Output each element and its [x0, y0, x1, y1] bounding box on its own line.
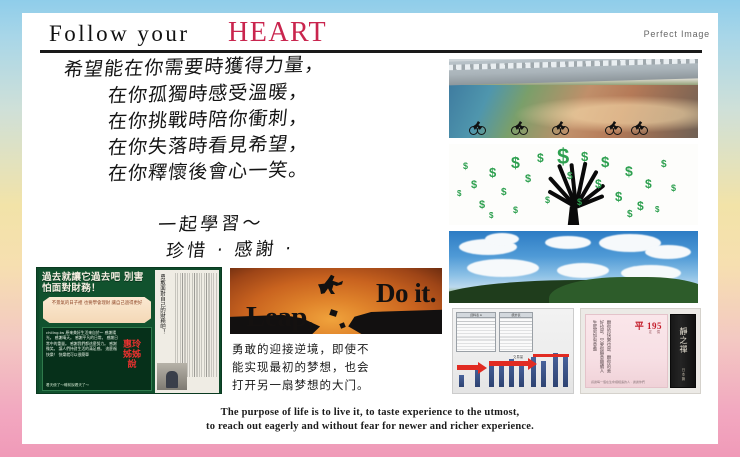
chart-series-label: 交易量	[513, 354, 523, 359]
cloud-shape	[485, 233, 519, 245]
magazine-left-page: 過去就讓它過去吧 別害怕面對財務！ 不景氣的日子裡 也要學會理財 讓自己過得更好…	[39, 270, 155, 393]
dollar-sign-icon: $	[513, 206, 518, 215]
pink-card: 願你的快樂也是，願你的美好也是，只要你願意繼續人生就更加有意義 平 195 定 …	[585, 314, 668, 388]
leap-caption-line: 能实现最初的梦想，也会	[232, 358, 444, 376]
gradient-frame: Follow your HEART Perfect Image 希望能在你需要時…	[0, 0, 740, 457]
dollar-sign-icon: $	[537, 152, 544, 164]
leap-word-left: Leap,	[246, 303, 314, 332]
dollar-sign-icon: $	[671, 184, 676, 193]
dollar-sign-icon: $	[463, 162, 468, 171]
chart-bar	[541, 361, 546, 387]
dollar-sign-icon: $	[545, 196, 550, 205]
chart-arrow-up-right	[489, 361, 529, 366]
cloud-shape	[467, 259, 539, 277]
table-a-rows	[457, 318, 495, 351]
magazine-ribbon-text: 不景氣的日子裡 也要學會理財 讓自己過得更好	[43, 301, 151, 307]
mural-wall	[449, 85, 698, 138]
magazine-vertical-title: 勇敢面對自己的財務吧！	[158, 274, 166, 350]
handwriting-block: 希望能在你需要時獲得力量， 在你孤獨時感受溫暖， 在你挑戰時陪你衝刺， 在你失落…	[50, 57, 450, 287]
magazine-text-columns	[175, 273, 217, 377]
magazine-body-text: chillng.tw 原來美好生活來自於～ 感謝陽光。 感謝晴天。 感謝平凡的日…	[46, 330, 118, 357]
leap-word-right: Do it.	[376, 280, 436, 307]
chart-bar	[499, 363, 504, 387]
falling-rock-shape	[339, 322, 346, 329]
handwriting-signoff-line: 珍惜 · 感謝 ·	[165, 233, 452, 265]
footer-quote-line: to reach out eagerly and without fear fo…	[22, 420, 718, 434]
dollar-sign-icon: $	[471, 180, 477, 191]
mural-cyclist-icon	[605, 119, 622, 135]
table-b-rows	[500, 318, 532, 351]
page-title: Follow your	[49, 21, 190, 47]
dollar-sign-icon: $	[595, 178, 602, 190]
dollar-sign-icon: $	[601, 155, 609, 170]
magazine-clipping: 過去就讓它過去吧 別害怕面對財務！ 不景氣的日子裡 也要學會理財 讓自己過得更好…	[36, 267, 222, 394]
falling-rock-shape	[329, 309, 338, 317]
chart-bar	[563, 357, 568, 387]
magazine-ribbon: 不景氣的日子裡 也要學會理財 讓自己過得更好	[43, 297, 151, 323]
book-title: 靜之禪	[678, 327, 688, 354]
magazine-footer-text: 看天使了～睡前說看天了～	[46, 383, 150, 388]
leap-caption: 勇敢的迎接逆境，即使不 能实现最初的梦想，也会 打开另一扇梦想的大门。	[232, 340, 444, 394]
pink-card-and-book: 願你的快樂也是，願你的美好也是，只要你願意繼續人生就更加有意義 平 195 定 …	[580, 308, 701, 394]
slide-sheet: Follow your HEART Perfect Image 希望能在你需要時…	[22, 13, 718, 444]
magazine-green-panel: chillng.tw 原來美好生活來自於～ 感謝陽光。 感謝晴天。 感謝平凡的日…	[42, 327, 152, 391]
dollar-sign-icon: $	[567, 172, 573, 182]
header: Follow your HEART Perfect Image	[22, 13, 718, 51]
bridge-railing	[449, 59, 698, 71]
dollar-sign-icon: $	[655, 206, 659, 214]
seated-person-silhouette	[166, 371, 178, 388]
card-vertical-text: 願你的快樂也是，願你的美好也是，只要你願意繼續人生就更加有意義	[591, 320, 612, 374]
magazine-red-stamp: 惠玲 姊姊 說	[117, 340, 147, 370]
dollar-sign-icon: $	[525, 174, 531, 185]
mural-cyclist-icon	[631, 119, 648, 135]
dollar-sign-icon: $	[577, 198, 582, 207]
bridge-deck	[449, 59, 698, 86]
mural-cyclist-icon	[552, 119, 569, 135]
cloud-shape	[557, 263, 609, 278]
chart-bar	[459, 375, 464, 387]
photo-bridge-mural	[449, 59, 698, 138]
brand-mark: Perfect Image	[644, 29, 710, 39]
card-price-label: 定 價	[649, 329, 662, 334]
dollar-sign-icon: $	[661, 160, 667, 170]
dollar-sign-icon: $	[627, 210, 633, 220]
dollar-sign-icon: $	[625, 164, 633, 178]
leap-caption-line: 勇敢的迎接逆境，即使不	[232, 340, 444, 358]
handwriting-signoff: 一起學習～ 珍惜 · 感謝 ·	[50, 213, 450, 265]
dollar-sign-icon: $	[501, 188, 507, 198]
dollar-sign-icon: $	[489, 166, 496, 179]
photo-sky-hill	[449, 231, 698, 303]
leap-caption-line: 打开另一扇梦想的大门。	[232, 376, 444, 394]
dollar-sign-icon: $	[557, 146, 569, 168]
mural-cyclist-icon	[511, 119, 528, 135]
dollar-sign-icon: $	[457, 190, 461, 198]
footer-quote-line: The purpose of life is to live it, to ta…	[22, 406, 718, 420]
photo-money-tree: $ $ $ $ $ $ $ $ $ $ $ $ $ $ $ $ $ $ $ $ …	[449, 144, 698, 225]
dollar-sign-icon: $	[615, 190, 622, 203]
chart-arrow-up-left	[457, 365, 479, 370]
dollar-sign-icon: $	[489, 212, 493, 220]
magazine-right-page: 勇敢面對自己的財務吧！	[155, 270, 219, 393]
page-title-accent: HEART	[228, 17, 327, 49]
dollar-sign-icon: $	[511, 156, 520, 172]
leap-do-it-banner: Leap, Do it.	[230, 268, 442, 334]
cloud-shape	[645, 245, 691, 259]
dollar-sign-icon: $	[581, 150, 588, 163]
dollar-sign-icon: $	[645, 178, 652, 190]
magazine-headline: 過去就讓它過去吧 別害怕面對財務！	[42, 272, 152, 294]
magazine-photo-inset	[157, 363, 187, 390]
card-footer-text: 感謝每一個在生命裡相遇的人 · 謝謝你們	[591, 380, 663, 384]
jumping-person-silhouette	[318, 274, 343, 294]
mural-cyclist-icon	[469, 119, 486, 135]
chart-bar	[553, 353, 558, 387]
footer-quote: The purpose of life is to live it, to ta…	[22, 406, 718, 434]
dollar-sign-icon: $	[637, 200, 644, 212]
chart-screenshot: 資料表 A 統計表 交易量	[452, 308, 574, 394]
book-spine: 靜之禪 日本篇	[670, 314, 696, 388]
spreadsheet-table-b: 統計表	[499, 312, 533, 352]
spreadsheet-table-a: 資料表 A	[456, 312, 496, 352]
cloud-shape	[545, 236, 591, 249]
chart-bar	[519, 365, 524, 387]
book-subtitle: 日本篇	[681, 368, 686, 381]
dollar-sign-icon: $	[479, 200, 485, 211]
chart-trend-cap	[533, 354, 569, 357]
